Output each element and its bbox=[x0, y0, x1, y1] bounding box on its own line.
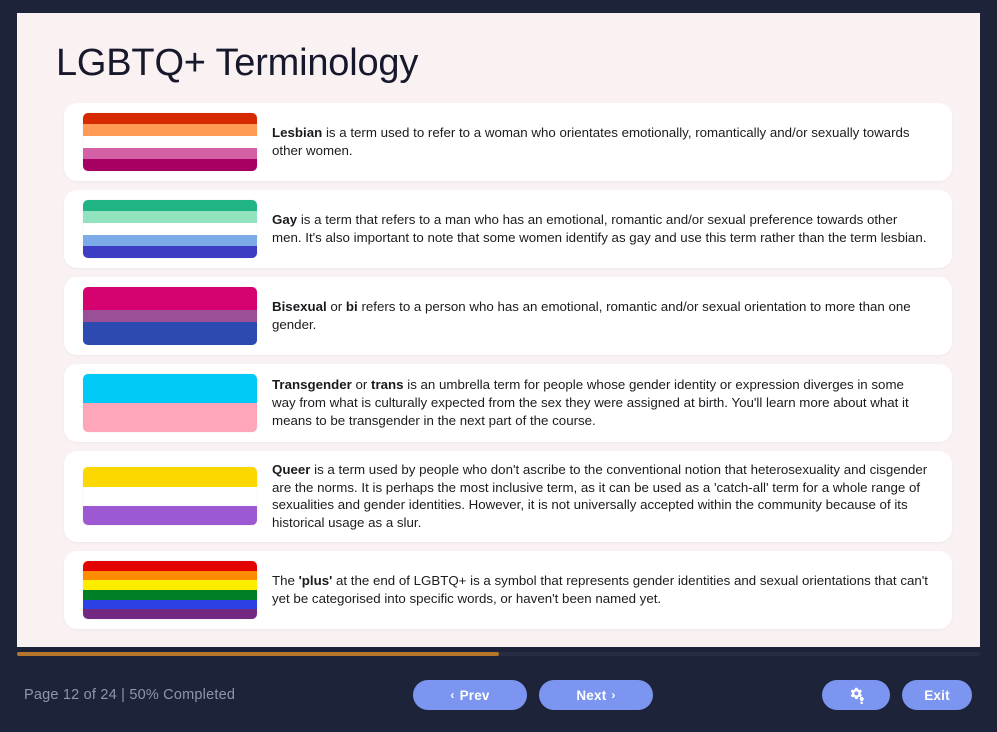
slide-canvas: LGBTQ+ Terminology Lesbian is a term use… bbox=[17, 13, 980, 647]
card-text: Lesbian is a term used to refer to a wom… bbox=[272, 124, 936, 160]
term-alt-label: trans bbox=[371, 377, 404, 392]
flag-stripe bbox=[83, 200, 257, 212]
list-item: Transgender or trans is an umbrella term… bbox=[64, 364, 952, 442]
term-description: refers to a person who has an emotional,… bbox=[272, 299, 911, 332]
flag-stripe bbox=[83, 159, 257, 171]
list-item: Bisexual or bi refers to a person who ha… bbox=[64, 277, 952, 355]
rainbow-pride-flag-icon bbox=[83, 561, 257, 619]
term-description: is a term used by people who don't ascri… bbox=[272, 462, 927, 530]
flag-stripe bbox=[83, 580, 257, 590]
settings-button[interactable] bbox=[822, 680, 890, 710]
term-alt-label: bi bbox=[346, 299, 358, 314]
term-description: is a term that refers to a man who has a… bbox=[272, 212, 926, 245]
flag-stripe bbox=[83, 322, 257, 345]
lesbian-pride-flag-icon bbox=[83, 113, 257, 171]
flag-stripe bbox=[83, 467, 257, 486]
page-status-text: Page 12 of 24 | 50% Completed bbox=[24, 687, 235, 703]
bisexual-pride-flag-icon bbox=[83, 287, 257, 345]
page-title: LGBTQ+ Terminology bbox=[17, 13, 980, 85]
flag-stripe bbox=[83, 124, 257, 136]
flag-stripe bbox=[83, 487, 257, 506]
term-description: at the end of LGBTQ+ is a symbol that re… bbox=[272, 573, 928, 606]
card-text: Transgender or trans is an umbrella term… bbox=[272, 376, 936, 429]
nonbinary-queer-pride-flag-icon bbox=[83, 467, 257, 525]
flag-stripe bbox=[83, 600, 257, 610]
term-conjunction: or bbox=[352, 377, 371, 392]
flag-stripe bbox=[83, 374, 257, 403]
card-text: Queer is a term used by people who don't… bbox=[272, 461, 936, 532]
term-label: Bisexual bbox=[272, 299, 327, 314]
prev-button-label: Prev bbox=[460, 688, 490, 703]
list-item: Queer is a term used by people who don't… bbox=[64, 451, 952, 542]
next-button-label: Next bbox=[576, 688, 606, 703]
flag-stripe bbox=[83, 148, 257, 160]
flag-stripe bbox=[83, 246, 257, 258]
gear-icon bbox=[847, 686, 866, 705]
flag-stripe bbox=[83, 609, 257, 619]
term-label: Lesbian bbox=[272, 125, 322, 140]
flag-stripe bbox=[83, 403, 257, 432]
chevron-right-icon: › bbox=[611, 689, 615, 701]
gay-men-pride-flag-icon bbox=[83, 200, 257, 258]
flag-stripe bbox=[83, 211, 257, 223]
flag-stripe bbox=[83, 590, 257, 600]
list-item: The 'plus' at the end of LGBTQ+ is a sym… bbox=[64, 551, 952, 629]
card-text: The 'plus' at the end of LGBTQ+ is a sym… bbox=[272, 572, 936, 608]
player-actions: Exit bbox=[822, 680, 972, 710]
player-footer: Page 12 of 24 | 50% Completed ‹ Prev Nex… bbox=[0, 658, 997, 732]
card-text: Gay is a term that refers to a man who h… bbox=[272, 211, 936, 247]
term-label: 'plus' bbox=[299, 573, 333, 588]
card-text: Bisexual or bi refers to a person who ha… bbox=[272, 298, 936, 334]
flag-stripe bbox=[83, 136, 257, 148]
chevron-left-icon: ‹ bbox=[450, 689, 454, 701]
term-prefix: The bbox=[272, 573, 299, 588]
next-button[interactable]: Next › bbox=[539, 680, 653, 710]
course-progress-fill bbox=[17, 652, 499, 656]
exit-button-label: Exit bbox=[924, 688, 950, 703]
flag-stripe bbox=[83, 571, 257, 581]
presentation-player: LGBTQ+ Terminology Lesbian is a term use… bbox=[0, 0, 997, 732]
terminology-card-list: Lesbian is a term used to refer to a wom… bbox=[17, 85, 980, 629]
exit-button[interactable]: Exit bbox=[902, 680, 972, 710]
term-description: is a term used to refer to a woman who o… bbox=[272, 125, 910, 158]
list-item: Lesbian is a term used to refer to a wom… bbox=[64, 103, 952, 181]
flag-stripe bbox=[83, 287, 257, 310]
term-conjunction: or bbox=[327, 299, 346, 314]
flag-stripe bbox=[83, 235, 257, 247]
term-label: Transgender bbox=[272, 377, 352, 392]
course-progress-bar bbox=[17, 652, 980, 656]
term-label: Gay bbox=[272, 212, 297, 227]
flag-stripe bbox=[83, 113, 257, 125]
flag-stripe bbox=[83, 310, 257, 322]
flag-stripe bbox=[83, 506, 257, 525]
term-label: Queer bbox=[272, 462, 310, 477]
navigation-controls: ‹ Prev Next › bbox=[413, 680, 653, 710]
prev-button[interactable]: ‹ Prev bbox=[413, 680, 527, 710]
flag-stripe bbox=[83, 223, 257, 235]
flag-stripe bbox=[83, 561, 257, 571]
list-item: Gay is a term that refers to a man who h… bbox=[64, 190, 952, 268]
transgender-pride-flag-icon bbox=[83, 374, 257, 432]
